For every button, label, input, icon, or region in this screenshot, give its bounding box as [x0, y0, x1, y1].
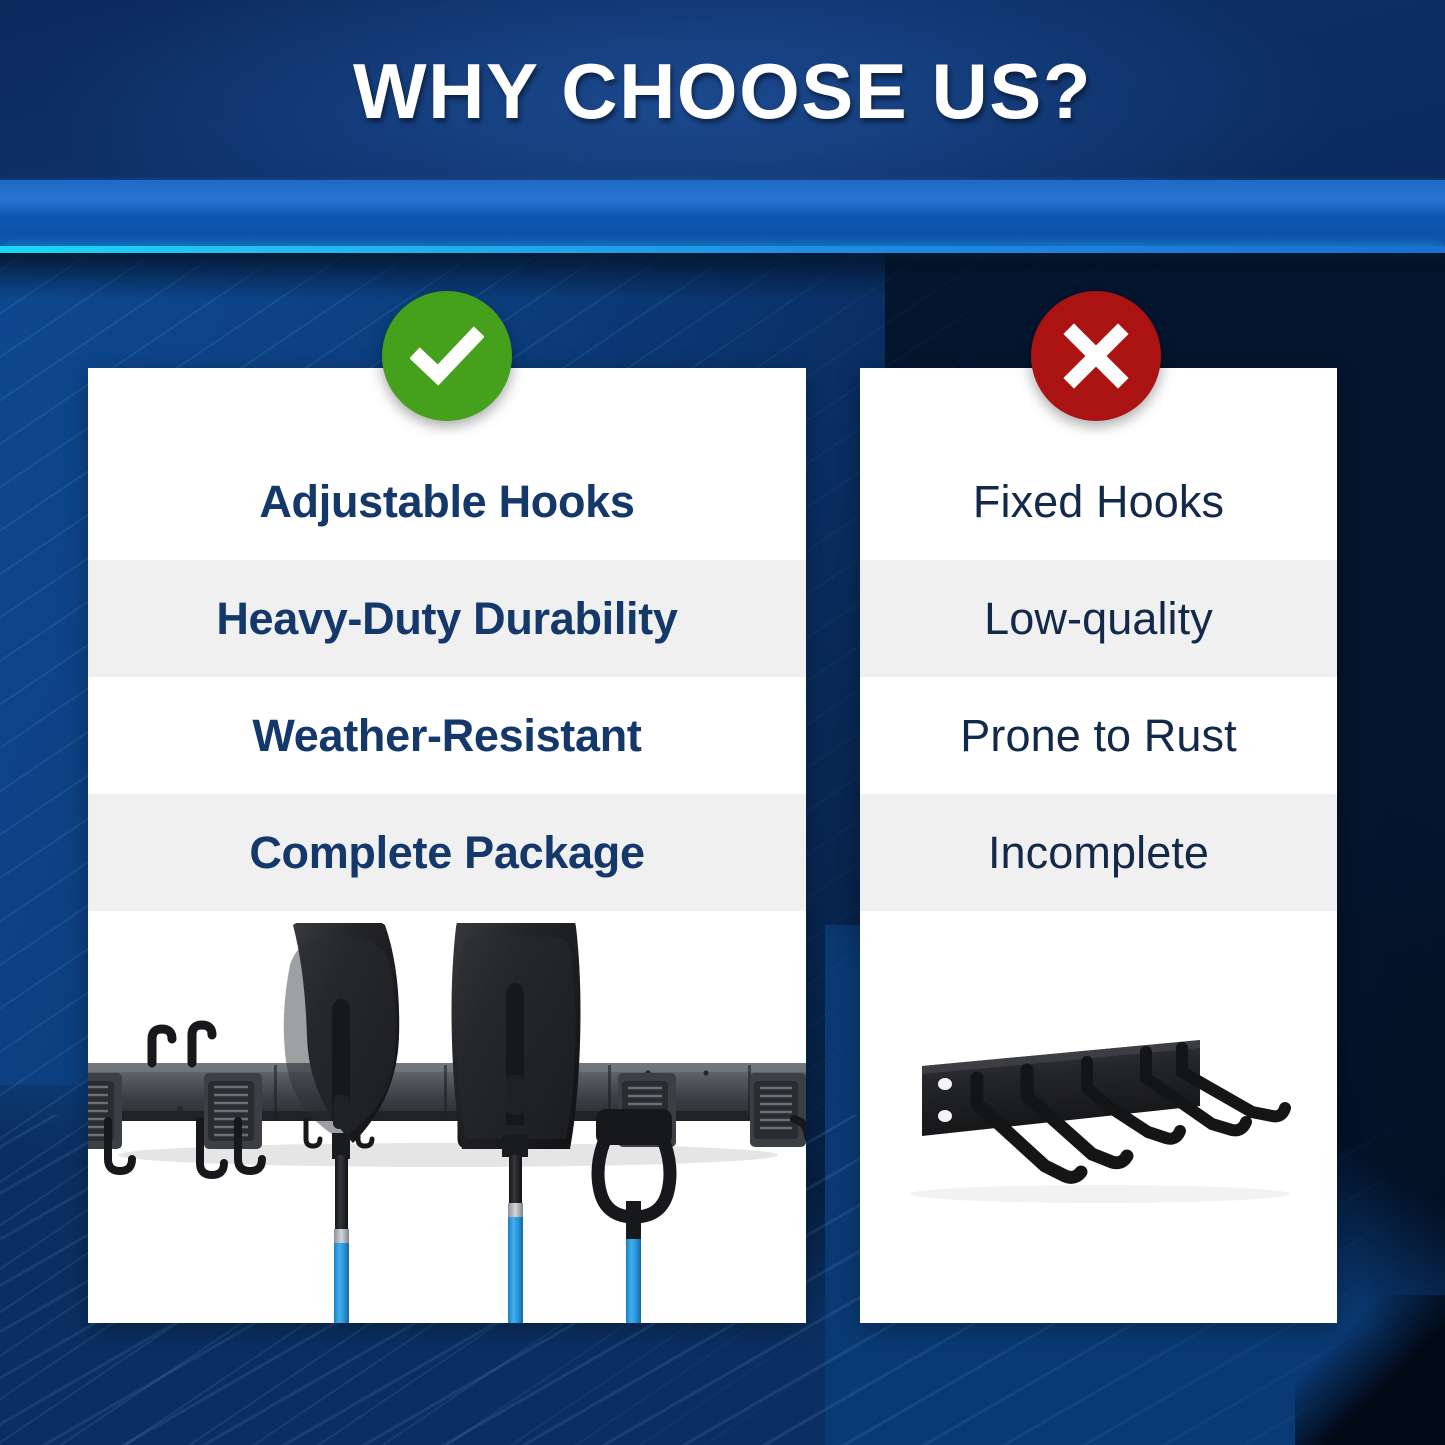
pro-row-4: Complete Package	[88, 794, 806, 911]
con-panel: Fixed Hooks Low-quality Prone to Rust In…	[860, 368, 1337, 1323]
con-row-3-label: Prone to Rust	[948, 712, 1248, 759]
pro-row-1-label: Adjustable Hooks	[247, 478, 646, 525]
accent-band-highlight	[0, 175, 1445, 215]
con-row-2-label: Low-quality	[972, 595, 1225, 642]
con-row-2: Low-quality	[860, 560, 1337, 677]
pro-row-2-label: Heavy-Duty Durability	[204, 595, 689, 642]
con-row-1: Fixed Hooks	[860, 443, 1337, 560]
pro-row-3-label: Weather-Resistant	[240, 712, 653, 759]
accent-band-cyan-line	[0, 246, 1445, 253]
pro-row-3: Weather-Resistant	[88, 677, 806, 794]
infographic-canvas: WHY CHOOSE US? Adjustable Hooks Heavy-Du…	[0, 0, 1445, 1445]
check-circle-icon	[382, 291, 512, 421]
pro-product-image	[88, 923, 806, 1323]
page-title: WHY CHOOSE US?	[0, 52, 1445, 130]
pro-row-4-label: Complete Package	[237, 829, 656, 876]
con-row-4-label: Incomplete	[976, 829, 1221, 876]
cross-circle-icon	[1031, 291, 1161, 421]
con-row-3: Prone to Rust	[860, 677, 1337, 794]
accent-band-shadow	[0, 253, 1445, 299]
pro-row-2: Heavy-Duty Durability	[88, 560, 806, 677]
con-row-1-label: Fixed Hooks	[961, 478, 1236, 525]
con-product-image	[860, 1008, 1337, 1248]
pro-row-1: Adjustable Hooks	[88, 443, 806, 560]
con-row-4: Incomplete	[860, 794, 1337, 911]
pro-panel: Adjustable Hooks Heavy-Duty Durability W…	[88, 368, 806, 1323]
